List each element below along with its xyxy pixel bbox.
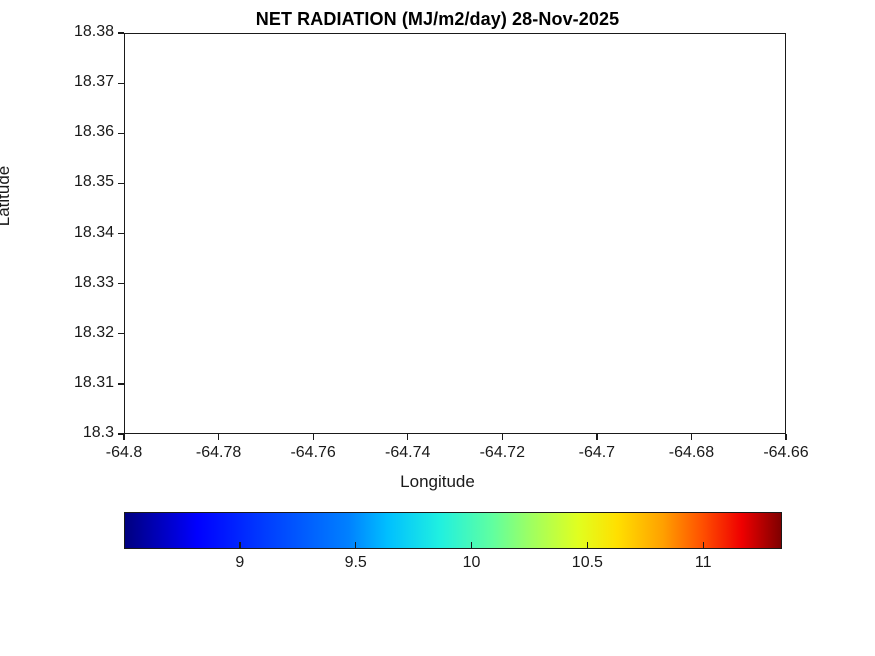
x-tick (691, 434, 692, 440)
x-tick-label: -64.66 (726, 444, 846, 462)
colorbar-tick-label: 9 (235, 554, 244, 572)
chart-title: NET RADIATION (MJ/m2/day) 28-Nov-2025 (0, 9, 875, 30)
x-tick (596, 434, 597, 440)
x-tick (502, 434, 503, 440)
x-axis-label: Longitude (0, 472, 875, 492)
x-tick (218, 434, 219, 440)
colorbar-tick (587, 542, 588, 549)
x-tick (123, 434, 124, 440)
y-tick (118, 233, 124, 234)
colorbar-tick (239, 542, 240, 549)
y-tick-label: 18.32 (6, 324, 114, 342)
y-tick-label: 18.35 (6, 173, 114, 191)
y-tick (118, 183, 124, 184)
colorbar-gradient (125, 513, 781, 548)
y-tick-label: 18.36 (6, 123, 114, 141)
axes-frame (124, 33, 786, 434)
colorbar[interactable] (124, 512, 782, 549)
y-tick (118, 32, 124, 33)
colorbar-tick (355, 542, 356, 549)
y-axis-label: Latitude (0, 166, 14, 227)
x-tick (407, 434, 408, 440)
colorbar-tick-label: 9.5 (345, 554, 367, 572)
y-tick (118, 283, 124, 284)
x-tick (313, 434, 314, 440)
colorbar-tick (703, 542, 704, 549)
y-tick (118, 383, 124, 384)
y-tick-label: 18.37 (6, 73, 114, 91)
figure-canvas: NET RADIATION (MJ/m2/day) 28-Nov-2025 18… (0, 0, 875, 656)
y-tick-label: 18.34 (6, 224, 114, 242)
y-tick (118, 133, 124, 134)
colorbar-tick (471, 542, 472, 549)
y-tick (118, 83, 124, 84)
y-tick-label: 18.33 (6, 274, 114, 292)
x-tick (785, 434, 786, 440)
y-tick-label: 18.3 (6, 424, 114, 442)
y-tick-label: 18.31 (6, 374, 114, 392)
colorbar-tick-label: 11 (695, 554, 712, 572)
colorbar-tick-label: 10 (463, 554, 481, 572)
colorbar-tick-label: 10.5 (572, 554, 603, 572)
y-tick (118, 333, 124, 334)
y-tick-label: 18.38 (6, 23, 114, 41)
